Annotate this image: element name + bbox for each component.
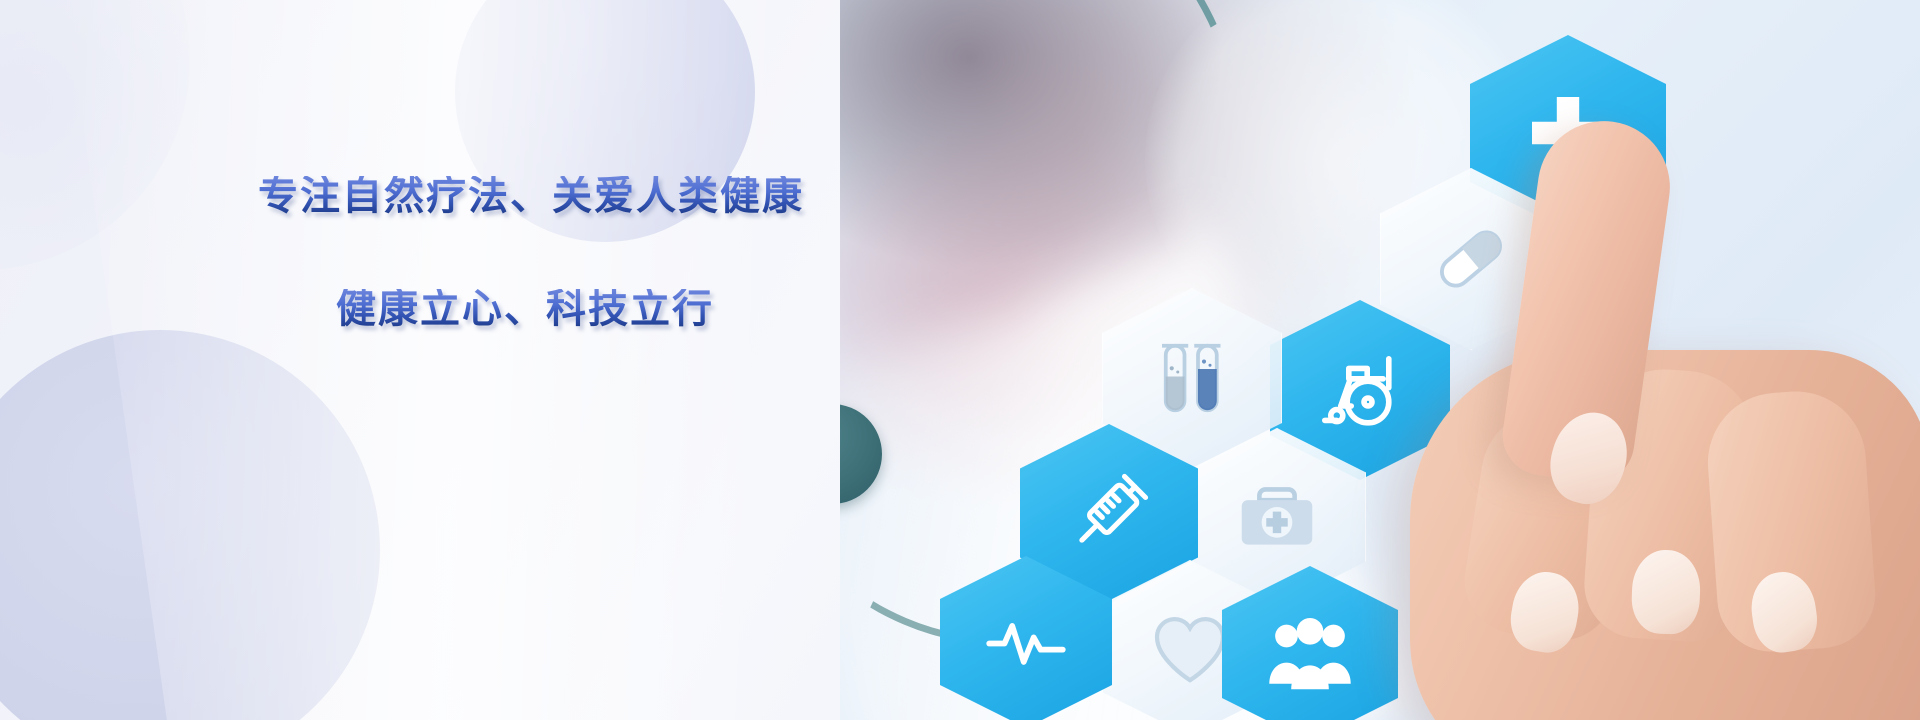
- hand-nail-ring: [1631, 549, 1702, 635]
- pointing-hand: [1260, 120, 1920, 720]
- doctor-photo-panel: [840, 0, 1920, 720]
- hero-banner: 专注自然疗法、关爱人类健康 健康立心、科技立行: [0, 0, 1920, 720]
- lavender-corner-glow: [0, 0, 190, 270]
- headline-line-1: 专注自然疗法、关爱人类健康: [258, 176, 898, 216]
- headline-block: 专注自然疗法、关爱人类健康 健康立心、科技立行: [258, 176, 898, 329]
- light-sheen: [57, 0, 943, 720]
- headline-line-2: 健康立心、科技立行: [336, 289, 898, 329]
- lavender-circle-bottom: [0, 330, 380, 720]
